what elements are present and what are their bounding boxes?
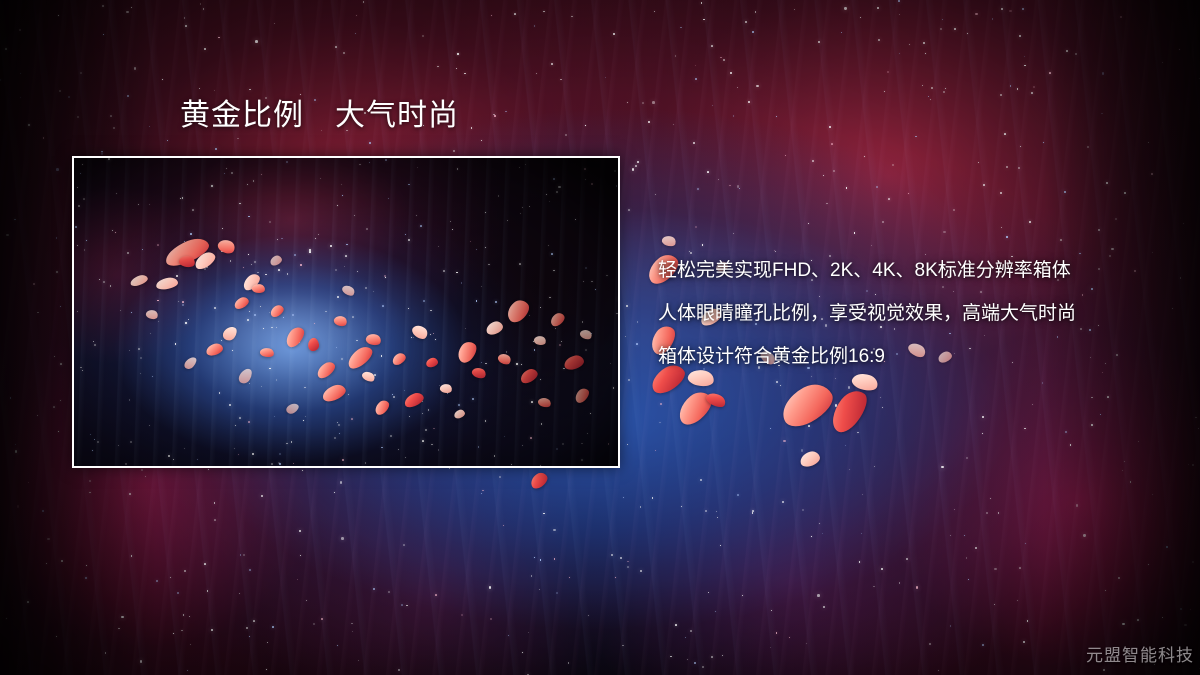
description-line-2: 人体眼睛瞳孔比例，享受视觉效果，高端大气时尚: [658, 301, 1158, 327]
feature-description: 轻松完美实现FHD、2K、4K、8K标准分辨率箱体 人体眼睛瞳孔比例，享受视觉效…: [658, 258, 1158, 370]
framed-image: [74, 158, 618, 466]
description-line-1: 轻松完美实现FHD、2K、4K、8K标准分辨率箱体: [658, 258, 1158, 284]
framed-image-vignette: [74, 158, 618, 466]
slide-canvas: 黄金比例 大气时尚 轻松完美实现FHD、2K、4K、8K标准分辨率箱体 人体眼睛…: [0, 0, 1200, 675]
brand-watermark: 元盟智能科技: [1086, 641, 1194, 666]
description-line-3: 箱体设计符合黄金比例16:9: [658, 344, 1158, 370]
page-title: 黄金比例 大气时尚: [180, 101, 459, 131]
framed-image-panel: [72, 156, 620, 468]
